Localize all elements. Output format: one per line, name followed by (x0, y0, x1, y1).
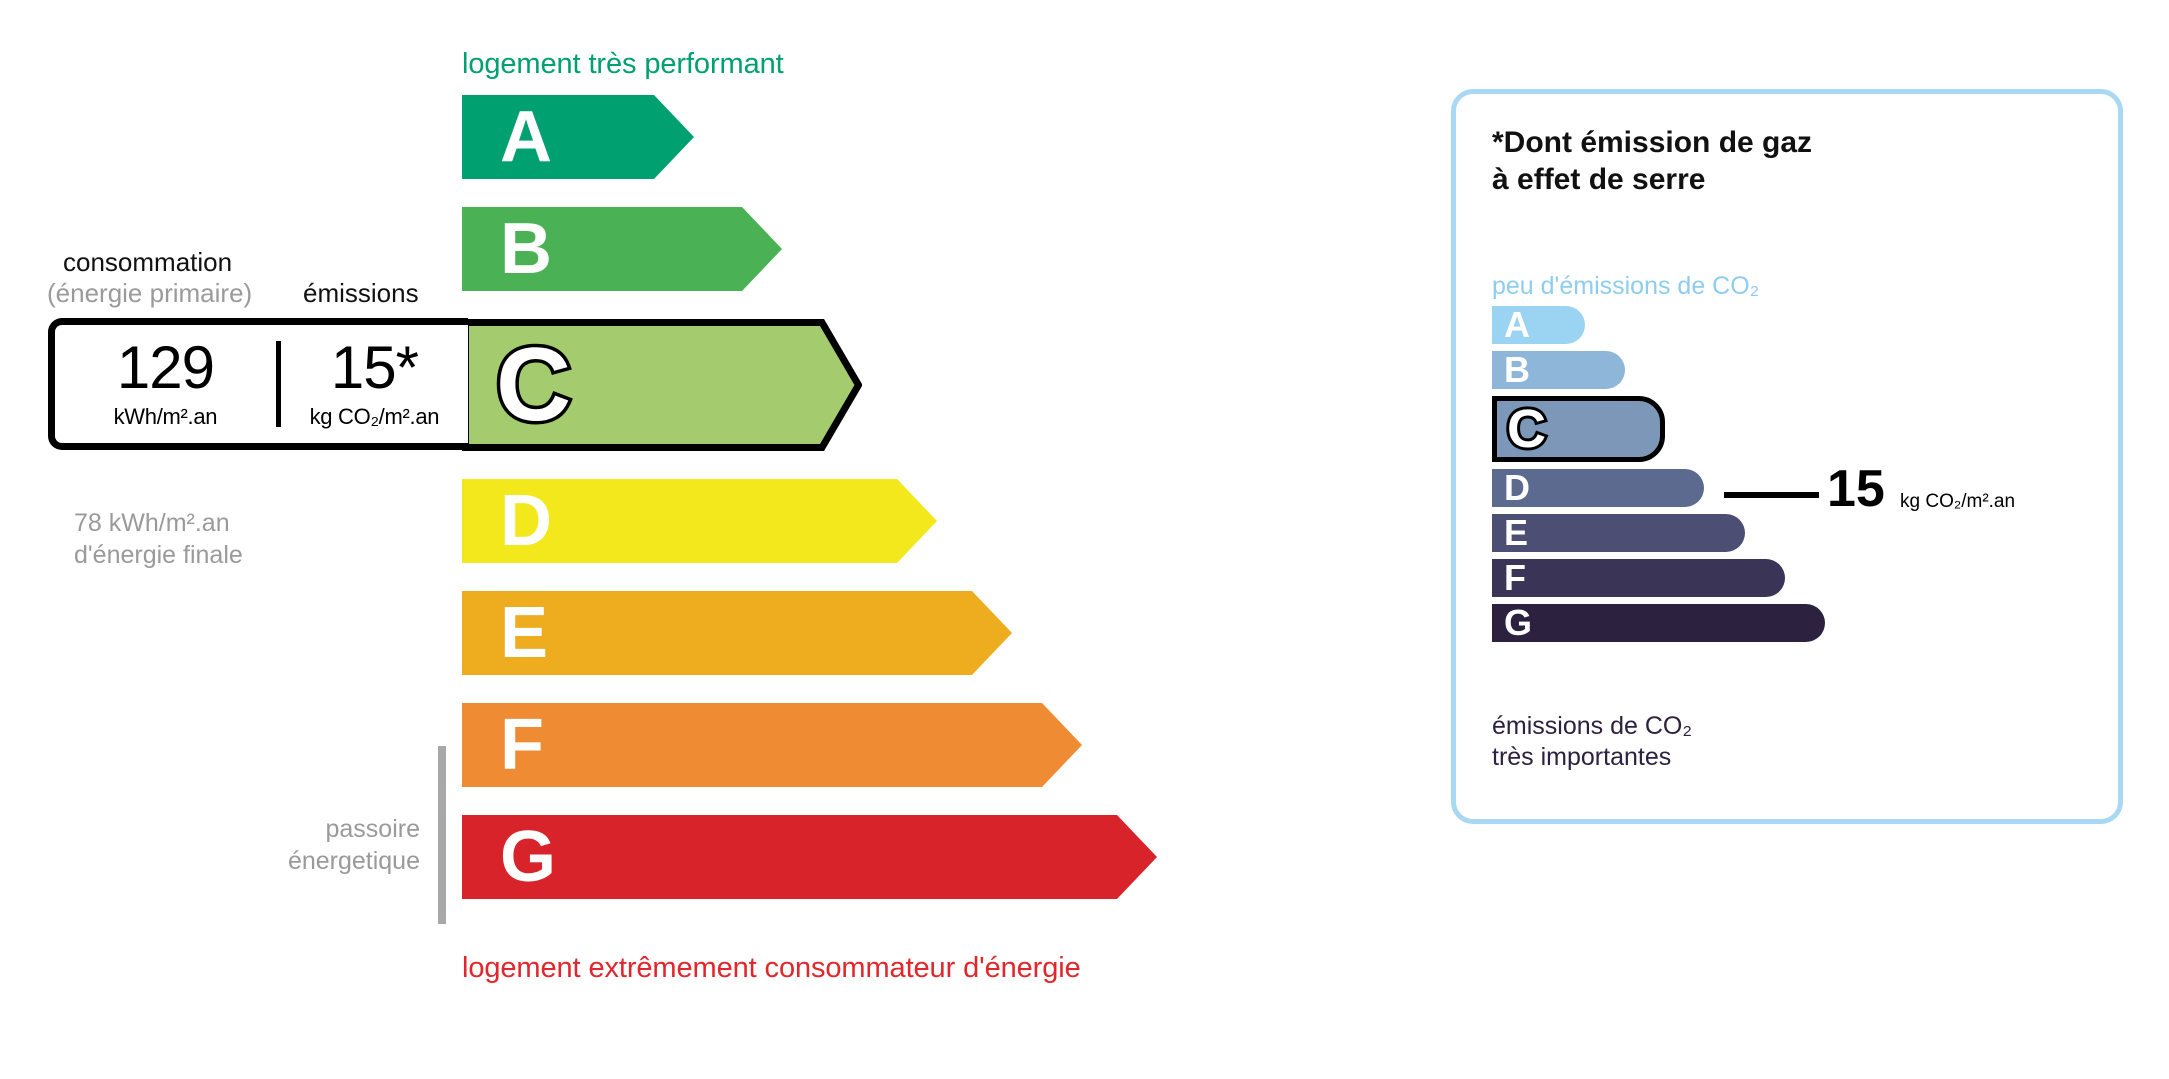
co2-band-letter: A (1504, 307, 1530, 343)
energy-band-e: E (462, 591, 1012, 675)
emissions-value-cell: 15* kg CO₂/m².an (281, 325, 468, 443)
co2-title-line1: *Dont émission de gaz (1492, 125, 1812, 162)
value-readout-box: 129 kWh/m².an 15* kg CO₂/m².an (48, 318, 468, 450)
energy-band-letter: B (500, 213, 552, 285)
co2-band-bar: G (1492, 604, 1825, 642)
dpe-energy-label: logement très performant ABCDEFG logemen… (0, 0, 2169, 1079)
co2-band-letter: F (1504, 560, 1526, 596)
passoire-line2: énergetique (260, 846, 420, 878)
consumption-value-cell: 129 kWh/m².an (55, 325, 276, 443)
co2-panel-title: *Dont émission de gaz à effet de serre (1492, 125, 1812, 198)
label-energie-primaire: (énergie primaire) (47, 278, 252, 309)
energy-band-arrow: G (462, 815, 1157, 899)
co2-bottom-caption: émissions de CO₂ très importantes (1492, 711, 1692, 773)
arrow-shape (462, 95, 694, 179)
co2-band-b: B (1492, 351, 1625, 389)
co2-band-f: F (1492, 559, 1785, 597)
co2-band-bar: B (1492, 351, 1625, 389)
co2-value: 15 (1827, 463, 1885, 515)
energy-band-letter: E (500, 597, 548, 669)
energy-band-c: C (462, 319, 862, 451)
energy-band-letter: G (500, 821, 556, 893)
co2-band-letter: G (1504, 605, 1532, 641)
label-consommation: consommation (63, 247, 232, 278)
co2-band-letter: B (1504, 352, 1530, 388)
co2-emissions-panel: *Dont émission de gaz à effet de serre p… (1451, 89, 2123, 824)
passoire-bracket (438, 746, 446, 924)
co2-band-d: D (1492, 469, 1704, 507)
energy-band-arrow: F (462, 703, 1082, 787)
energy-band-arrow: D (462, 479, 937, 563)
energy-band-a: A (462, 95, 694, 179)
co2-band-bar: C (1492, 396, 1665, 462)
co2-band-letter: C (1507, 402, 1546, 456)
co2-value-unit: kg CO₂/m².an (1900, 491, 2015, 513)
co2-bottom-line2: très importantes (1492, 742, 1692, 773)
energy-band-arrow: E (462, 591, 1012, 675)
co2-band-c: C (1492, 396, 1665, 462)
arrow-shape (462, 703, 1082, 787)
energy-band-arrow: B (462, 207, 782, 291)
emissions-value: 15* (331, 338, 418, 398)
co2-band-bar: E (1492, 514, 1745, 552)
energy-band-g: G (462, 815, 1157, 899)
co2-title-line2: à effet de serre (1492, 162, 1812, 199)
energy-consumption-scale: logement très performant ABCDEFG logemen… (0, 0, 1400, 1079)
co2-band-letter: E (1504, 515, 1528, 551)
co2-bottom-line1: émissions de CO₂ (1492, 711, 1692, 742)
energy-band-letter: C (496, 333, 571, 437)
co2-band-g: G (1492, 604, 1825, 642)
passoire-label: passoire énergetique (260, 814, 420, 877)
co2-band-bar: F (1492, 559, 1785, 597)
consumption-value: 129 (117, 338, 214, 398)
co2-band-bar: D (1492, 469, 1704, 507)
energy-band-b: B (462, 207, 782, 291)
co2-band-a: A (1492, 306, 1585, 344)
co2-band-letter: D (1504, 470, 1530, 506)
label-emissions: émissions (303, 278, 419, 309)
energy-band-letter: F (500, 709, 544, 781)
co2-top-caption: peu d'émissions de CO₂ (1492, 272, 1759, 301)
passoire-line1: passoire (260, 814, 420, 846)
co2-band-bar: A (1492, 306, 1585, 344)
scale-bottom-caption: logement extrêmement consommateur d'éner… (462, 952, 1081, 985)
energy-band-arrow: A (462, 95, 694, 179)
arrow-shape (462, 815, 1157, 899)
energy-band-letter: A (500, 101, 552, 173)
co2-band-e: E (1492, 514, 1745, 552)
final-energy-line2: d'énergie finale (74, 540, 243, 572)
co2-leader-line (1724, 492, 1819, 498)
final-energy-note: 78 kWh/m².an d'énergie finale (74, 508, 243, 571)
final-energy-line1: 78 kWh/m².an (74, 508, 243, 540)
scale-top-caption: logement très performant (462, 48, 784, 81)
consumption-unit: kWh/m².an (114, 404, 218, 430)
emissions-unit: kg CO₂/m².an (310, 404, 440, 430)
energy-band-d: D (462, 479, 937, 563)
energy-band-f: F (462, 703, 1082, 787)
energy-band-arrow: C (462, 319, 862, 451)
energy-band-letter: D (500, 485, 552, 557)
